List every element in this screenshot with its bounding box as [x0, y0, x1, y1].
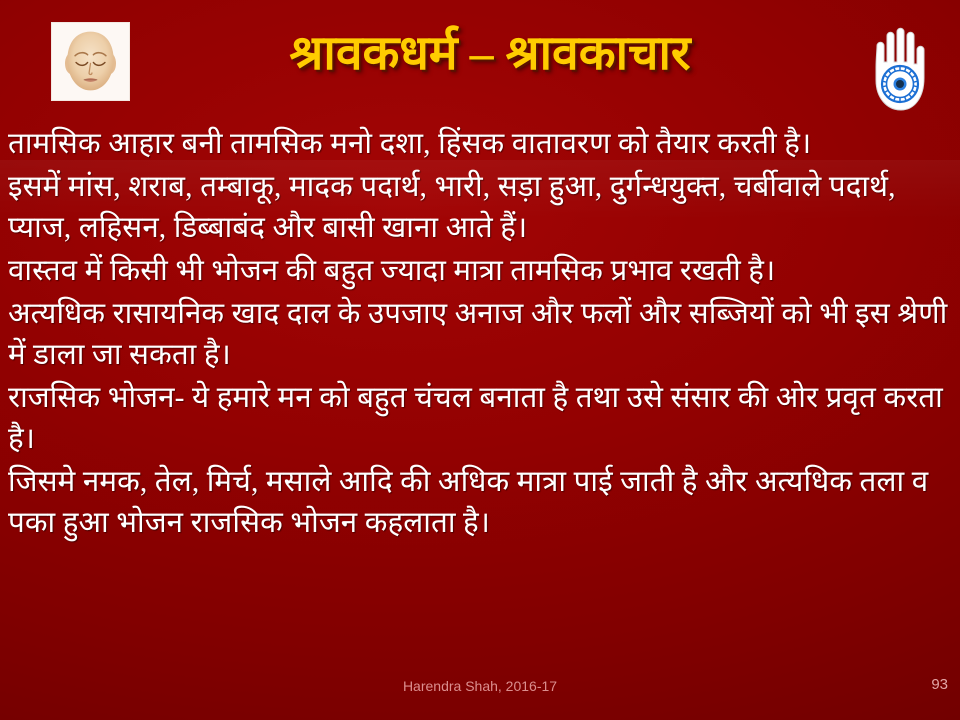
jain-ahimsa-hand-icon	[860, 22, 942, 114]
body-paragraph: अत्यधिक रासायनिक खाद दाल के उपजाए अनाज औ…	[8, 294, 952, 376]
slide-body: तामसिक आहार बनी तामसिक मनो दशा, हिंसक वा…	[8, 124, 952, 544]
page-title: श्रावकधर्म – श्रावकाचार	[170, 26, 810, 83]
presentation-slide: श्रावकधर्म – श्रावकाचार	[0, 0, 960, 720]
body-paragraph: राजसिक भोजन- ये हमारे मन को बहुत चंचल बन…	[8, 378, 952, 460]
footer-credit: Harendra Shah, 2016-17	[0, 678, 960, 694]
body-paragraph: वास्तव में किसी भी भोजन की बहुत ज्यादा म…	[8, 251, 952, 292]
page-number: 93	[931, 676, 948, 693]
body-paragraph: इसमें मांस, शराब, तम्बाकू, मादक पदार्थ, …	[8, 167, 952, 249]
body-paragraph: जिसमे नमक, तेल, मिर्च, मसाले आदि की अधिक…	[8, 462, 952, 544]
tirthankara-face-image	[51, 22, 130, 101]
body-paragraph: तामसिक आहार बनी तामसिक मनो दशा, हिंसक वा…	[8, 124, 952, 165]
slide-header: श्रावकधर्म – श्रावकाचार	[0, 0, 960, 120]
